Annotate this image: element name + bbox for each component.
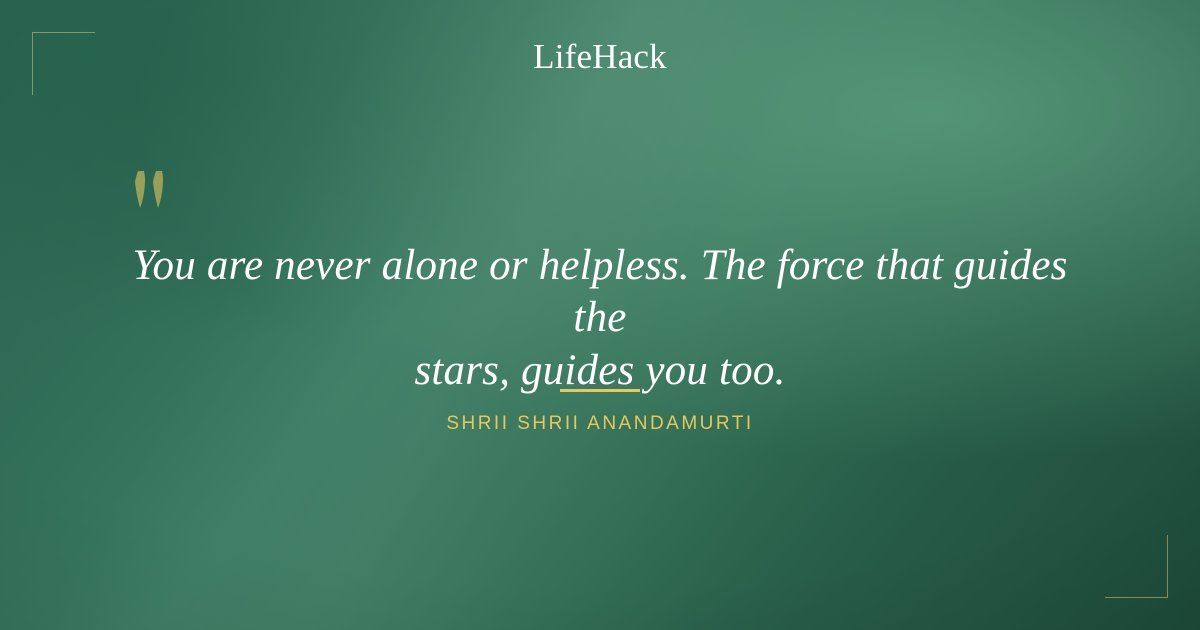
gold-divider [560, 389, 640, 392]
brand-logo: LifeHack [0, 39, 1200, 74]
quote-line-1: You are never alone or helpless. The for… [110, 240, 1090, 345]
divider-wrapper [0, 379, 1200, 397]
author-attribution: SHRII SHRII ANANDAMURTI [0, 413, 1200, 435]
quote-mark-icon [129, 152, 175, 214]
quote-card: LifeHack You are never alone or helpless… [0, 0, 1200, 630]
quote-block: You are never alone or helpless. The for… [110, 240, 1090, 397]
corner-bracket-bottom-right [1105, 535, 1168, 598]
